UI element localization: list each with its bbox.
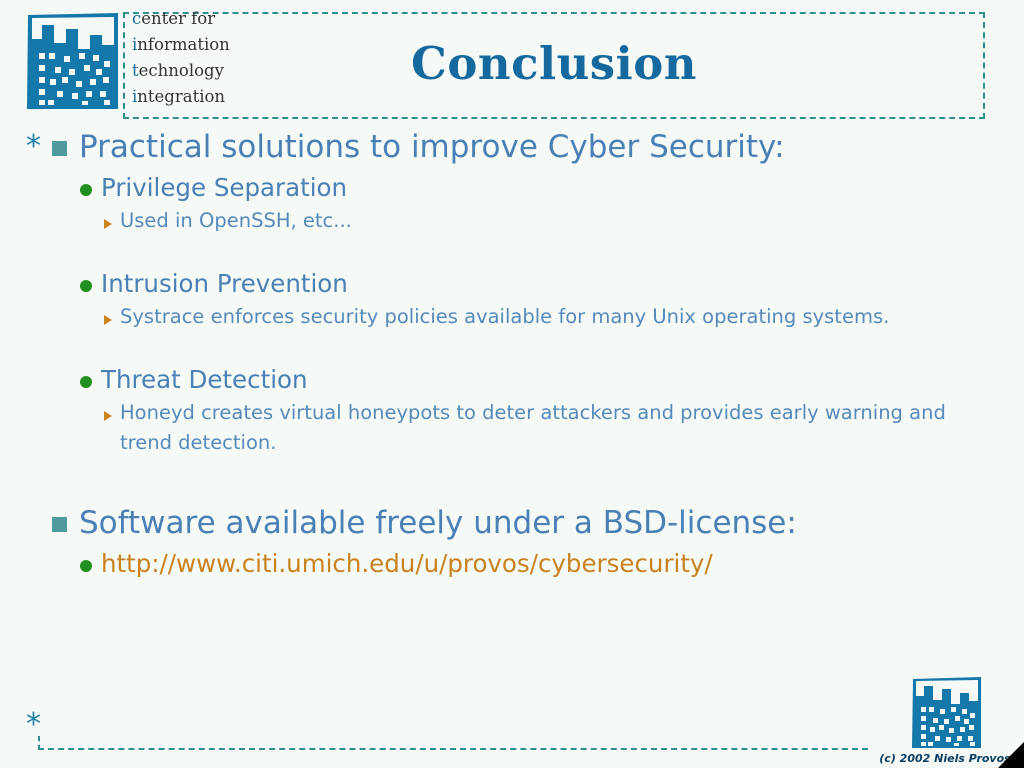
circle-bullet-icon	[80, 376, 92, 388]
logo-wordmark-line: center for	[132, 6, 230, 32]
cityscape-logo-icon	[910, 674, 984, 750]
triangle-bullet-icon	[104, 315, 112, 325]
circle-bullet-icon	[80, 184, 92, 196]
bullet-level3-label: Used in OpenSSH, etc...	[120, 206, 352, 236]
bullet-level2-label: Intrusion Prevention	[101, 266, 348, 302]
bullet-level2-label: Threat Detection	[101, 362, 308, 398]
bullet-level3-systrace: Systrace enforces security policies avai…	[0, 302, 1024, 332]
bullet-level2-threat-detection: Threat Detection	[0, 362, 1024, 398]
spacer	[0, 458, 1024, 502]
bullet-level3-label: Honeyd creates virtual honeypots to dete…	[120, 398, 960, 458]
bullet-level3-label: Systrace enforces security policies avai…	[120, 302, 889, 332]
bullet-level2-privilege-separation: Privilege Separation	[0, 170, 1024, 206]
triangle-bullet-icon	[104, 219, 112, 229]
page-title: Conclusion	[123, 36, 985, 92]
corner-fold-decoration	[998, 742, 1024, 768]
square-bullet-icon	[52, 517, 67, 532]
bullet-level3-honeyd: Honeyd creates virtual honeypots to dete…	[0, 398, 1024, 458]
bullet-level2-project-url[interactable]: http://www.citi.umich.edu/u/provos/cyber…	[0, 546, 1024, 582]
bullet-level2-label: Privilege Separation	[101, 170, 347, 206]
circle-bullet-icon	[80, 280, 92, 292]
square-bullet-icon	[52, 141, 67, 156]
bullet-level1-label: Practical solutions to improve Cyber Sec…	[79, 126, 785, 168]
bullet-level3-openssh: Used in OpenSSH, etc...	[0, 206, 1024, 236]
footer-divider	[38, 748, 868, 750]
bullet-level1-software-available: Software available freely under a BSD-li…	[0, 502, 1024, 544]
circle-bullet-icon	[80, 560, 92, 572]
logo-line-cap: c	[132, 9, 141, 28]
triangle-bullet-icon	[104, 411, 112, 421]
bullet-level1-practical-solutions: Practical solutions to improve Cyber Sec…	[0, 126, 1024, 168]
bullet-level1-label: Software available freely under a BSD-li…	[79, 502, 797, 544]
bullet-level2-intrusion-prevention: Intrusion Prevention	[0, 266, 1024, 302]
logo-line-rest: enter for	[141, 9, 215, 28]
spacer	[0, 236, 1024, 266]
project-url-link[interactable]: http://www.citi.umich.edu/u/provos/cyber…	[101, 546, 713, 582]
slide-body: Practical solutions to improve Cyber Sec…	[0, 126, 1024, 582]
copyright-notice: (c) 2002 Niels Provos	[872, 752, 1018, 766]
spacer	[0, 332, 1024, 362]
slide-canvas: center for information technology integr…	[0, 0, 1024, 768]
cityscape-logo-icon	[24, 9, 122, 112]
